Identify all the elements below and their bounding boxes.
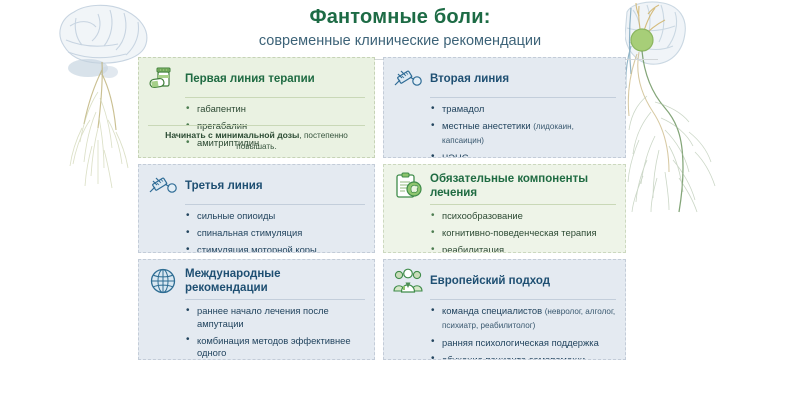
globe-icon xyxy=(148,267,178,295)
card-header: Вторая линия xyxy=(393,65,616,97)
card-header: Европейский подход xyxy=(393,267,616,299)
card-title-divider xyxy=(430,97,616,98)
list-item-label: обучение пациента самопомощи xyxy=(442,354,585,360)
card-title-divider xyxy=(430,299,616,300)
list-item: ЧЭНС xyxy=(431,152,616,158)
list-item-label: стимуляция моторной коры xyxy=(197,244,317,253)
list-item: комбинация методов эффективнее одного xyxy=(186,335,365,360)
list-item-label: ранняя психологическая поддержка xyxy=(442,337,599,348)
recommendation-cards-grid: Первая линия терапиигабапентинпрегабалин… xyxy=(138,57,626,360)
card-header: Третья линия xyxy=(148,172,365,204)
list-item: раннее начало лечения после ампутации xyxy=(186,305,365,330)
card-second-line: Вторая линиятрамадолместные анестетики (… xyxy=(383,57,626,158)
infographic-header: Фантомные боли: современные клинические … xyxy=(0,0,800,60)
card-title: Европейский подход xyxy=(430,274,550,288)
card-mandatory-treatment-components: Обязательные компоненты леченияпсихообра… xyxy=(383,164,626,253)
card-item-list: сильные опиоидыспинальная стимуляциястим… xyxy=(186,210,365,253)
card-third-line: Третья линиясильные опиоидыспинальная ст… xyxy=(138,164,375,253)
list-item-label: ЧЭНС xyxy=(442,152,469,158)
card-title: Международные рекомендации xyxy=(185,267,365,295)
card-title: Вторая линия xyxy=(430,72,509,86)
list-item-label: команда специалистов xyxy=(442,305,545,316)
page-title: Фантомные боли: xyxy=(0,4,800,30)
list-item-label: спинальная стимуляция xyxy=(197,227,302,238)
list-item-label: габапентин xyxy=(197,103,246,114)
list-item: ранняя психологическая поддержка xyxy=(431,337,616,350)
list-item: дулоксетин xyxy=(186,155,365,158)
card-item-list: команда специалистов (невролог, алголог,… xyxy=(431,305,616,360)
list-item: габапентин xyxy=(186,103,365,116)
list-item: психообразование xyxy=(431,210,616,223)
card-first-line-therapy: Первая линия терапиигабапентинпрегабалин… xyxy=(138,57,375,158)
card-title-divider xyxy=(430,204,616,205)
list-item-label: дулоксетин xyxy=(197,155,246,158)
clipboard-brain-icon xyxy=(393,172,423,200)
card-item-list: психообразованиекогнитивно-поведенческая… xyxy=(431,210,616,253)
list-item: когнитивно-поведенческая терапия xyxy=(431,227,616,240)
list-item: трамадол xyxy=(431,103,616,116)
card-international-recommendations: Международные рекомендациираннее начало … xyxy=(138,259,375,360)
card-title-divider xyxy=(185,299,365,300)
list-item: стимуляция моторной коры xyxy=(186,244,365,253)
card-header: Международные рекомендации xyxy=(148,267,365,299)
list-item-label: раннее начало лечения после ампутации xyxy=(197,305,329,329)
card-header: Обязательные компоненты лечения xyxy=(393,172,616,204)
card-title-divider xyxy=(185,204,365,205)
card-title: Обязательные компоненты лечения xyxy=(430,172,616,200)
card-title-divider xyxy=(185,97,365,98)
card-title: Третья линия xyxy=(185,179,263,193)
card-title: Первая линия терапии xyxy=(185,72,315,86)
card-item-list: трамадолместные анестетики (лидокаин, ка… xyxy=(431,103,616,158)
care-team-icon xyxy=(393,267,423,295)
card-footnote-emphasis: Начинать с минимальной дозы xyxy=(165,130,299,140)
list-item-label: психообразование xyxy=(442,210,523,221)
list-item-label: когнитивно-поведенческая терапия xyxy=(442,227,597,238)
list-item: спинальная стимуляция xyxy=(186,227,365,240)
syringe-icon xyxy=(393,65,423,93)
list-item-label: комбинация методов эффективнее одного xyxy=(197,335,351,359)
card-footnote: Начинать с минимальной дозы, постепенно … xyxy=(148,125,365,152)
page-subtitle: современные клинические рекомендации xyxy=(0,30,800,52)
list-item-label: реабилитация xyxy=(442,244,504,253)
list-item: сильные опиоиды xyxy=(186,210,365,223)
list-item: команда специалистов (невролог, алголог,… xyxy=(431,305,616,332)
list-item: обучение пациента самопомощи xyxy=(431,354,616,360)
list-item-label: трамадол xyxy=(442,103,484,114)
card-item-list: раннее начало лечения после ампутацииком… xyxy=(186,305,365,360)
list-item: реабилитация xyxy=(431,244,616,253)
pill-bottle-icon xyxy=(148,65,178,93)
list-item-label: местные анестетики xyxy=(442,120,533,131)
card-european-approach: Европейский подходкоманда специалистов (… xyxy=(383,259,626,360)
syringe-icon xyxy=(148,172,178,200)
card-header: Первая линия терапии xyxy=(148,65,365,97)
list-item: местные анестетики (лидокаин, капсаицин) xyxy=(431,120,616,147)
list-item-label: сильные опиоиды xyxy=(197,210,275,221)
